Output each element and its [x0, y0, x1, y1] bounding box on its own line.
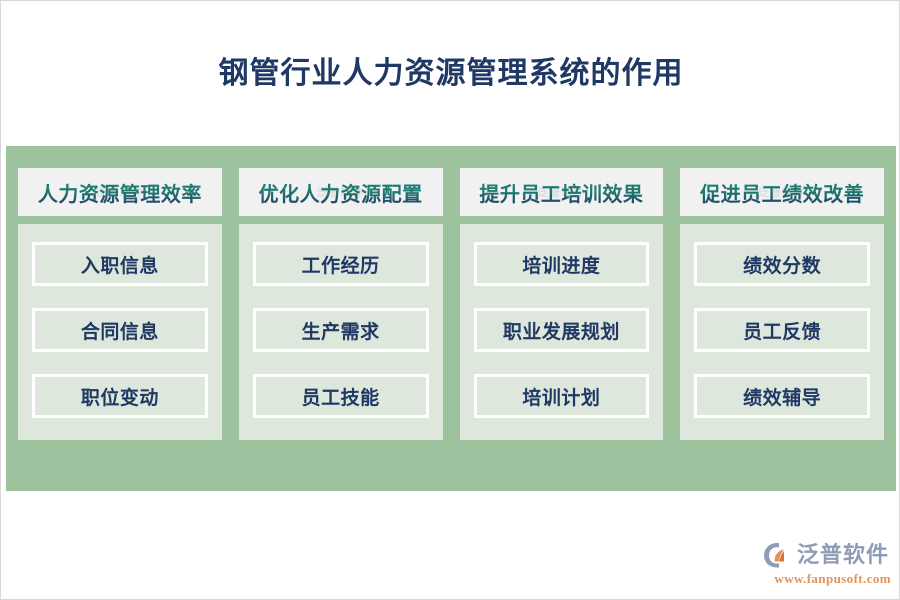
list-item[interactable]: 职业发展规划: [474, 308, 650, 352]
fanpusoft-logo-icon: [763, 541, 793, 569]
column-3-header: 泛普软件 提升员工培训效果: [460, 168, 664, 216]
column-2: 泛普软件 优化人力资源配置 工作经历 生产需求 员工技能: [239, 168, 443, 440]
column-1-header-label: 人力资源管理效率: [38, 178, 202, 207]
list-item[interactable]: 培训进度: [474, 242, 650, 286]
column-2-header: 泛普软件 优化人力资源配置: [239, 168, 443, 216]
column-4-body: 绩效分数 员工反馈 绩效辅导: [680, 224, 884, 440]
list-item[interactable]: 绩效辅导: [694, 374, 870, 418]
column-3-header-label: 提升员工培训效果: [479, 178, 643, 207]
columns-panel: 泛普软件 人力资源管理效率 入职信息 合同信息 职位变动 泛普软件 优化人力资源…: [6, 146, 896, 491]
list-item[interactable]: 培训计划: [474, 374, 650, 418]
column-3: 泛普软件 提升员工培训效果 培训进度 职业发展规划 培训计划: [460, 168, 664, 440]
column-4-header: 泛普软件 促进员工绩效改善: [680, 168, 884, 216]
column-1-body: 入职信息 合同信息 职位变动: [18, 224, 222, 440]
column-1: 泛普软件 人力资源管理效率 入职信息 合同信息 职位变动: [18, 168, 222, 440]
brand-logo: 泛普软件 www.fanpusoft.com: [763, 541, 891, 587]
column-1-header: 泛普软件 人力资源管理效率: [18, 168, 222, 216]
list-item[interactable]: 绩效分数: [694, 242, 870, 286]
list-item[interactable]: 员工技能: [253, 374, 429, 418]
list-item[interactable]: 工作经历: [253, 242, 429, 286]
logo-row: 泛普软件: [763, 541, 889, 569]
logo-name: 泛普软件: [797, 544, 889, 566]
page-title: 钢管行业人力资源管理系统的作用: [1, 48, 900, 92]
diagram-page: 钢管行业人力资源管理系统的作用 泛普软件 人力资源管理效率 入职信息 合同信息 …: [0, 0, 900, 600]
list-item[interactable]: 员工反馈: [694, 308, 870, 352]
column-4: 泛普软件 促进员工绩效改善 绩效分数 员工反馈 绩效辅导: [680, 168, 884, 440]
column-2-header-label: 优化人力资源配置: [259, 178, 423, 207]
list-item[interactable]: 生产需求: [253, 308, 429, 352]
column-2-body: 工作经历 生产需求 员工技能: [239, 224, 443, 440]
logo-url: www.fanpusoft.com: [774, 571, 891, 587]
list-item[interactable]: 合同信息: [32, 308, 208, 352]
column-4-header-label: 促进员工绩效改善: [700, 178, 864, 207]
column-3-body: 培训进度 职业发展规划 培训计划: [460, 224, 664, 440]
list-item[interactable]: 入职信息: [32, 242, 208, 286]
list-item[interactable]: 职位变动: [32, 374, 208, 418]
